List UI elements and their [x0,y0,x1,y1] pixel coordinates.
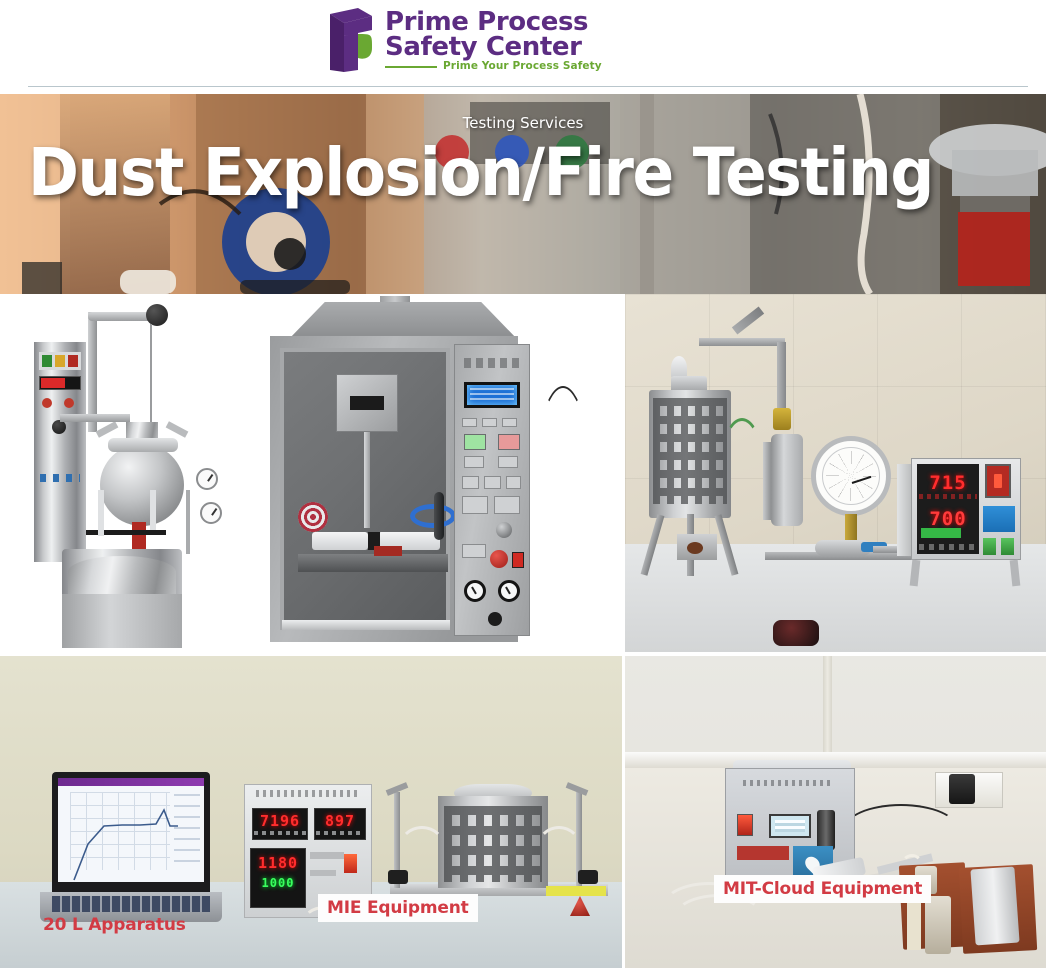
thermocouple-wire [721,418,763,504]
power-indicator-lamp [344,854,357,873]
panel-gauge-right [498,580,520,602]
blue-tubing [410,504,456,528]
blue-badge [983,506,1015,532]
inlet-pipe-horizontal [699,338,785,346]
logo-tagline: Prime Your Process Safety [443,62,602,72]
switch-row-7[interactable] [484,476,501,489]
warning-label [737,846,789,860]
fume-hood [288,302,518,340]
red-indicator [512,552,524,568]
sample-pile-center [925,896,951,954]
ignition-vessel [771,434,803,526]
logo-tagline-row: Prime Your Process Safety [385,62,602,72]
inlet-pipe-vertical [777,342,786,412]
probe-connector[interactable] [817,810,835,850]
site-header: Prime Process Safety Center Prime Your P… [0,0,1046,94]
probe-wire-left [398,826,446,872]
dispersion-column [364,432,370,528]
hero-kicker: Testing Services [0,114,1046,132]
photo-mie-equipment[interactable] [258,296,622,654]
readout-left: 7196 [252,812,308,830]
laptop-screen [58,778,204,882]
probe-wire-right [536,826,582,872]
switch-row-5[interactable] [498,456,518,468]
unit-display [769,814,811,838]
switch-row-11[interactable] [462,544,486,558]
emergency-stop-button[interactable] [490,550,508,568]
pressure-gauge-upper [196,468,218,490]
power-cable [534,386,592,586]
readout-right: 897 [314,812,366,830]
caption-twenty-liter: 20 L Apparatus [34,911,195,939]
hero-banner: Testing Services Dust Explosion/Fire Tes… [0,94,1046,294]
photo-twenty-liter-apparatus[interactable] [0,294,258,654]
pressure-gauge-lower [200,502,222,524]
green-button-2[interactable] [1001,538,1014,555]
hoist-knob [146,304,168,326]
laptop-keyboard[interactable] [52,896,210,912]
caption-mit-cloud: MIT-Cloud Equipment [714,875,931,903]
control-panel-cabinet [34,342,86,562]
red-spiral-tubing [298,502,328,532]
electrode-gap [350,396,384,410]
switch-row-9[interactable] [462,496,488,514]
photo-burn-rate-equipment[interactable] [625,656,1046,968]
hero-title: Dust Explosion/Fire Testing [28,134,933,211]
power-rocker-switch[interactable] [985,464,1011,498]
wall-seam [823,656,832,752]
brass-valve [773,408,791,430]
green-button-1[interactable] [983,538,996,555]
equipment-gallery: 20 L Apparatus [0,294,1046,968]
controller-vents [256,790,360,797]
mains-cable [843,804,959,856]
unit-vents [743,780,833,786]
readout-lower-setpoint: 1000 [250,876,306,890]
switch-row-3[interactable] [502,418,517,427]
software-titlebar [58,778,204,786]
switch-row-2[interactable] [482,418,497,427]
logo-line-1: Prime Process [385,10,602,35]
photo-mit-cloud-equipment[interactable]: 715 700 [625,294,1046,652]
switch-row-6[interactable] [462,476,479,489]
sample-strip [970,867,1019,946]
prime-p-leaf-logo-icon [328,8,376,74]
header-divider [28,86,1028,87]
page-root: Prime Process Safety Center Prime Your P… [0,0,1046,968]
switch-row-10[interactable] [494,496,520,514]
logo-line-2: Safety Center [385,35,602,60]
power-switch[interactable] [737,814,753,836]
readout-lower: 700 [919,508,977,530]
layer-ignition-furnace [438,796,548,888]
cloud-furnace [649,390,731,518]
lcd-display [464,382,520,408]
switch-row-8[interactable] [506,476,521,489]
laptop[interactable] [52,772,210,892]
explosion-sphere [100,444,184,526]
power-plug [949,774,975,804]
white-fitting-left [312,532,368,550]
pressure-gauge-dial [811,436,891,516]
readout-upper: 715 [919,472,977,494]
switch-row-1[interactable] [462,418,477,427]
switch-row-4[interactable] [464,456,484,468]
panel-gauge-left [464,580,486,602]
readout-lower: 1180 [250,854,306,872]
gauge-stem [845,514,857,540]
logo-wordmark: Prime Process Safety Center Prime Your P… [385,10,602,72]
site-logo[interactable]: Prime Process Safety Center Prime Your P… [328,8,602,74]
caption-mie: MIE Equipment [318,894,478,922]
logo-rule [385,66,437,68]
